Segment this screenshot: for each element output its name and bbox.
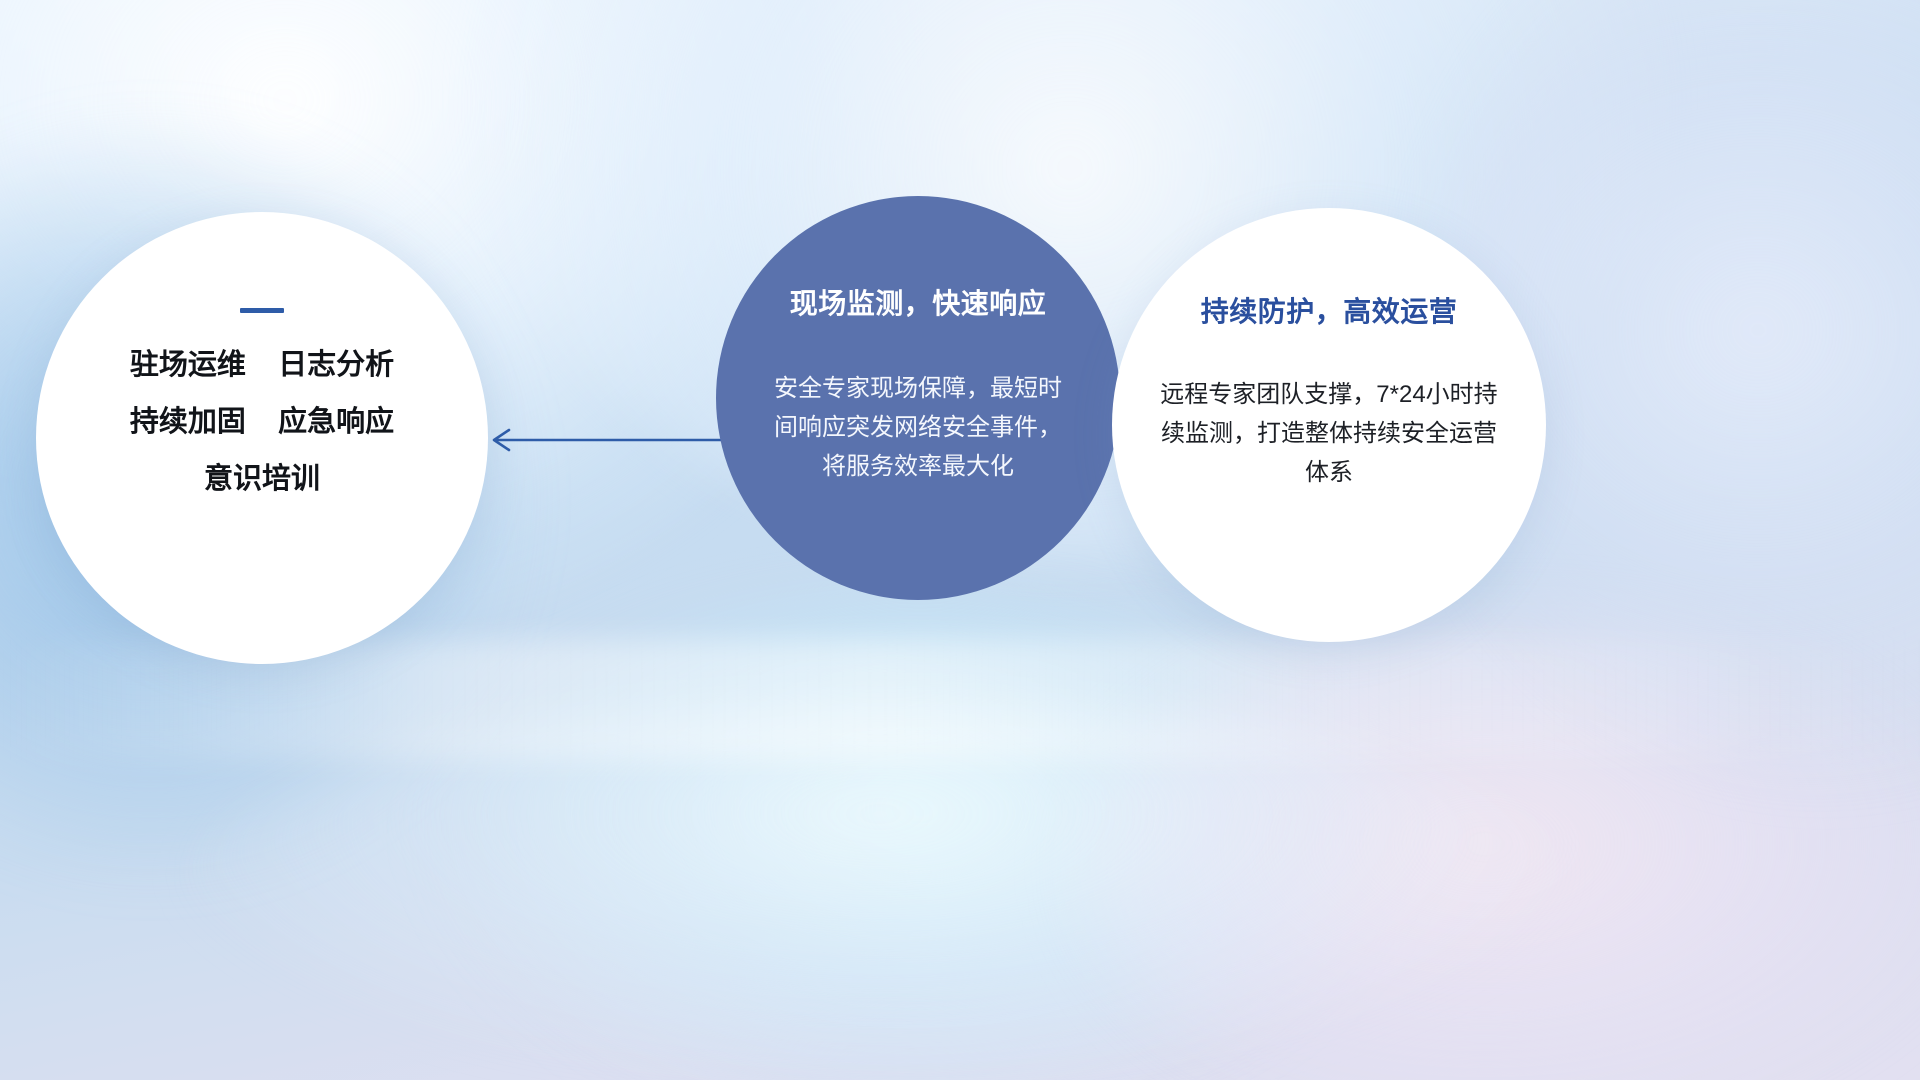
left-circle-line-2: 持续加固 应急响应	[130, 408, 394, 437]
right-operations-circle: 持续防护，高效运营 远程专家团队支撑，7*24小时持续监测，打造整体持续安全运营…	[1112, 208, 1546, 642]
middle-onsite-circle: 现场监测，快速响应 安全专家现场保障，最短时间响应突发网络安全事件，将服务效率最…	[716, 196, 1120, 600]
arrow-left-icon	[480, 416, 730, 464]
left-circle-text-block: 驻场运维 日志分析 持续加固 应急响应 意识培训	[130, 351, 394, 494]
right-circle-body: 远程专家团队支撑，7*24小时持续监测，打造整体持续安全运营体系	[1154, 376, 1504, 493]
horizontal-dash-icon	[240, 308, 284, 313]
middle-circle-body: 安全专家现场保障，最短时间响应突发网络安全事件，将服务效率最大化	[768, 370, 1068, 487]
right-circle-title: 持续防护，高效运营	[1201, 290, 1458, 330]
left-circle-line-1: 驻场运维 日志分析	[130, 351, 394, 380]
middle-circle-title: 现场监测，快速响应	[790, 282, 1047, 322]
slide-canvas: 驻场运维 日志分析 持续加固 应急响应 意识培训 现场监测，快速响应 安全专家现…	[0, 0, 1920, 1080]
left-capability-circle: 驻场运维 日志分析 持续加固 应急响应 意识培训	[36, 212, 488, 664]
left-circle-line-3: 意识培训	[130, 465, 394, 494]
